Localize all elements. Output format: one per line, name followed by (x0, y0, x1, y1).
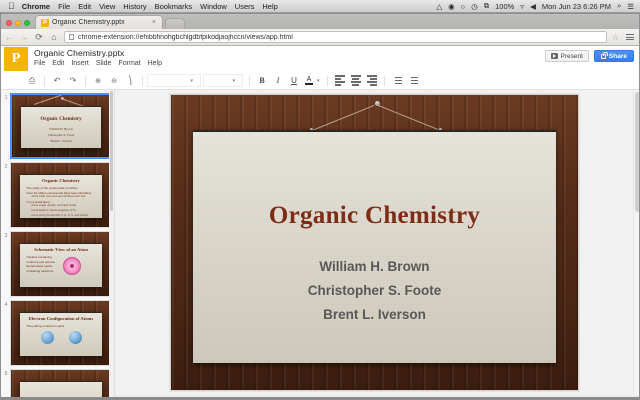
slide-thumbnail-1[interactable]: Organic Chemistry William H. Brown Chris… (10, 93, 112, 159)
align-left-icon[interactable] (332, 73, 348, 88)
url-text: chrome-extension://ehibbfinohgbchlgdbfpi… (78, 34, 293, 41)
share-label: Share (609, 53, 627, 60)
clock-datetime: Mon Jun 23 6:26 PM (542, 2, 611, 11)
atom-label-1: Nucleus containing neutrons and protons (27, 255, 63, 264)
document-title[interactable]: Organic Chemistry.pptx (34, 48, 545, 58)
print-icon[interactable]: ⎙ (24, 73, 40, 88)
slide-author-2: Christopher S. Foote (193, 279, 555, 303)
slide-thumbnail-3[interactable]: Schematic View of an Atom Nucleus contai… (10, 231, 112, 297)
app-menu-help[interactable]: Help (148, 60, 162, 67)
play-icon (551, 53, 558, 59)
header-middle: Organic Chemistry.pptx File Edit Insert … (34, 46, 545, 67)
thumb-heading: Electron Configuration of Atoms (20, 316, 102, 321)
editor-area: 1 Organic Chemistry William H. Brown Chr… (0, 90, 640, 400)
app-menu-format[interactable]: Format (118, 60, 140, 67)
menu-bookmarks[interactable]: Bookmarks (155, 2, 193, 11)
thumb-bullets: The study of the compounds of carbon Ove… (27, 186, 98, 218)
underline-button[interactable]: U (286, 73, 302, 88)
slide-author-1: William H. Brown (193, 255, 555, 279)
screen:  Chrome File Edit View History Bookmark… (0, 0, 640, 400)
chrome-menu-icon[interactable] (624, 34, 636, 40)
thumb-heading: Schematic View of an Atom (20, 247, 102, 252)
slide-title[interactable]: Organic Chemistry (193, 202, 555, 230)
wifi-icon[interactable]: ▿ (520, 2, 524, 11)
slide-thumbnail-row[interactable]: 1 Organic Chemistry William H. Brown Chr… (0, 90, 114, 159)
share-button[interactable]: Share (594, 50, 634, 62)
thumb-authors: William H. Brown Christopher S. Foote Br… (21, 126, 101, 144)
slide-board: Organic Chemistry William H. Brown Chris… (193, 130, 555, 363)
zoom-out-icon[interactable]: ⊖ (106, 73, 122, 88)
back-icon[interactable]: ← (4, 32, 14, 42)
menu-edit[interactable]: Edit (78, 2, 91, 11)
text-color-letter: A (307, 76, 312, 83)
close-tab-icon[interactable]: × (152, 19, 156, 26)
chevron-down-icon: ▾ (232, 78, 235, 84)
volume-icon[interactable]: ◀ (530, 2, 536, 11)
slide-board: Organic Chemistry William H. Brown Chris… (21, 106, 101, 149)
minimize-window-button[interactable] (15, 20, 21, 26)
window-controls (4, 20, 35, 29)
chevron-down-icon: ▾ (190, 78, 193, 84)
page-info-icon[interactable] (69, 34, 74, 40)
slide-thumbnail-4[interactable]: Electron Configuration of Atoms The pair… (10, 300, 112, 366)
app-menu-insert[interactable]: Insert (71, 60, 89, 67)
slide-number: 5 (2, 369, 10, 400)
omnibox-toolbar: ← → ⟳ ⌂ chrome-extension://ehibbfinohgbc… (0, 29, 640, 46)
app-menu-bar: File Edit Insert Slide Format Help (34, 60, 545, 67)
redo-icon[interactable]: ↷ (65, 73, 81, 88)
notification-center-icon[interactable]: ☰ (627, 2, 634, 11)
electron-sphere-left (41, 331, 54, 344)
thumb-heading: Organic Chemistry (20, 178, 102, 183)
macos-menu-bar:  Chrome File Edit View History Bookmark… (0, 0, 640, 13)
thumb-subtitle: The pairing of electron spins (27, 324, 98, 329)
slide-thumbnail-row[interactable]: 3 Schematic View of an Atom Nucleus cont… (0, 228, 114, 297)
tab-title: Organic Chemistry.pptx (52, 19, 149, 26)
slide-thumbnail-row[interactable]: 4 Electron Configuration of Atoms The pa… (0, 297, 114, 366)
display-icon[interactable]: ⧉ (484, 1, 489, 11)
atom-label-2: Extranuclear space containing electrons (27, 264, 63, 273)
toolbar-separator (384, 76, 385, 86)
header-actions: Present Share (545, 46, 640, 62)
slide-thumbnail-row[interactable]: 2 Organic Chemistry The study of the com… (0, 159, 114, 228)
slide-number: 1 (2, 93, 10, 159)
board-texture (193, 132, 555, 363)
app-menu-file[interactable]: File (34, 60, 45, 67)
filmstrip-scrollbar-thumb[interactable] (110, 91, 113, 211)
slide-author-3: Brent L. Iverson (193, 303, 555, 327)
menu-chrome[interactable]: Chrome (22, 2, 50, 11)
browser-tab[interactable]: P Organic Chemistry.pptx × (35, 15, 163, 29)
reload-icon[interactable]: ⟳ (34, 32, 44, 43)
zoom-in-icon[interactable]: ⊕ (90, 73, 106, 88)
menu-view[interactable]: View (99, 2, 115, 11)
menu-file[interactable]: File (58, 2, 70, 11)
forward-icon[interactable]: → (19, 32, 29, 42)
toolbar-separator (142, 76, 143, 86)
slide-thumbnail-2[interactable]: Organic Chemistry The study of the compo… (10, 162, 112, 228)
slide-canvas-area[interactable]: Organic Chemistry William H. Brown Chris… (115, 90, 640, 400)
sync-icon[interactable]: ◷ (471, 2, 478, 11)
align-right-icon[interactable] (364, 73, 380, 88)
slide-board: Electron Configuration of Atoms The pair… (20, 312, 102, 356)
filmstrip-scrollbar[interactable] (109, 90, 114, 400)
chevron-down-icon[interactable]: ▾ (317, 78, 320, 84)
slide-board: Organic Chemistry The study of the compo… (20, 174, 102, 218)
chrome-window: P Organic Chemistry.pptx × ← → ⟳ ⌂ chrom… (0, 13, 640, 400)
current-slide[interactable]: Organic Chemistry William H. Brown Chris… (170, 94, 579, 391)
canvas-scrollbar-thumb[interactable] (635, 92, 640, 212)
undo-icon[interactable]: ↶ (49, 73, 65, 88)
app-logo-icon: P (4, 47, 28, 71)
new-tab-button[interactable] (165, 18, 185, 29)
bullet-sub: forms strong bonds with C, H, O, N, and … (27, 214, 98, 218)
toolbar-separator (249, 76, 250, 86)
thumb-title: Organic Chemistry (21, 117, 101, 122)
canvas-scrollbar[interactable] (633, 90, 640, 400)
thumb-author-3: Brent L. Iverson (21, 138, 101, 144)
dropbox-icon[interactable]: △ (436, 2, 442, 11)
bullet: The pairing of electron spins (27, 324, 98, 329)
italic-button[interactable]: I (270, 73, 286, 88)
slide-board: Schematic View of an Atom Nucleus contai… (20, 243, 102, 287)
battery-percent[interactable]: 100% (495, 2, 514, 11)
toolbar-separator (327, 76, 328, 86)
toolbar-separator (85, 76, 86, 86)
bookmark-star-icon[interactable]: ☆ (612, 33, 619, 42)
slide-authors[interactable]: William H. Brown Christopher S. Foote Br… (193, 255, 555, 327)
align-center-icon[interactable] (348, 73, 364, 88)
menu-window[interactable]: Window (200, 2, 227, 11)
slide-thumbnail-row[interactable]: 5 (0, 366, 114, 400)
numbered-list-icon[interactable] (389, 73, 405, 88)
powerpoint-favicon: P (41, 19, 49, 27)
thumb-bullets: Nucleus containing neutrons and protons … (27, 255, 63, 273)
menu-users[interactable]: Users (235, 2, 255, 11)
font-family-select[interactable]: ▾ (147, 74, 201, 87)
lock-icon (601, 54, 606, 59)
font-size-select[interactable]: ▾ (203, 74, 243, 87)
app-menu-slide[interactable]: Slide (96, 60, 112, 67)
home-icon[interactable]: ⌂ (49, 32, 59, 42)
menu-help[interactable]: Help (262, 2, 277, 11)
slide-filmstrip[interactable]: 1 Organic Chemistry William H. Brown Chr… (0, 90, 115, 400)
slide-thumbnail-5[interactable] (10, 369, 112, 400)
bulleted-list-icon[interactable] (405, 73, 421, 88)
bold-button[interactable]: B (254, 73, 270, 88)
clock-icon[interactable]: ○ (461, 2, 466, 11)
spotlight-search-icon[interactable]: ⌕ (617, 1, 621, 11)
electron-sphere-right (69, 331, 82, 344)
text-color-button[interactable]: A (302, 73, 316, 88)
maximize-window-button[interactable] (24, 20, 30, 26)
apple-menu-icon[interactable]:  (8, 2, 15, 11)
app-header: P Organic Chemistry.pptx File Edit Inser… (0, 46, 640, 72)
address-bar[interactable]: chrome-extension://ehibbfinohgbchlgdbfpi… (64, 31, 607, 43)
slide-number: 3 (2, 231, 10, 297)
formatting-toolbar: ⎙ ↶ ↷ ⊕ ⊖ ⎞ ▾ ▾ B I U A (0, 72, 640, 90)
slide-number: 2 (2, 162, 10, 228)
text-color-swatch (305, 83, 313, 85)
slide-number: 4 (2, 300, 10, 366)
toolbar-separator (44, 76, 45, 86)
text-box-icon[interactable]: ⎞ (122, 73, 138, 88)
web-content: P Organic Chemistry.pptx File Edit Inser… (0, 46, 640, 400)
atom-diagram-icon (63, 257, 81, 275)
menu-history[interactable]: History (123, 2, 146, 11)
present-label: Present (561, 53, 583, 60)
present-button[interactable]: Present (545, 50, 589, 62)
tab-strip: P Organic Chemistry.pptx × (0, 13, 640, 29)
bell-icon[interactable]: ◉ (448, 2, 455, 11)
close-window-button[interactable] (6, 20, 12, 26)
app-menu-edit[interactable]: Edit (52, 60, 64, 67)
